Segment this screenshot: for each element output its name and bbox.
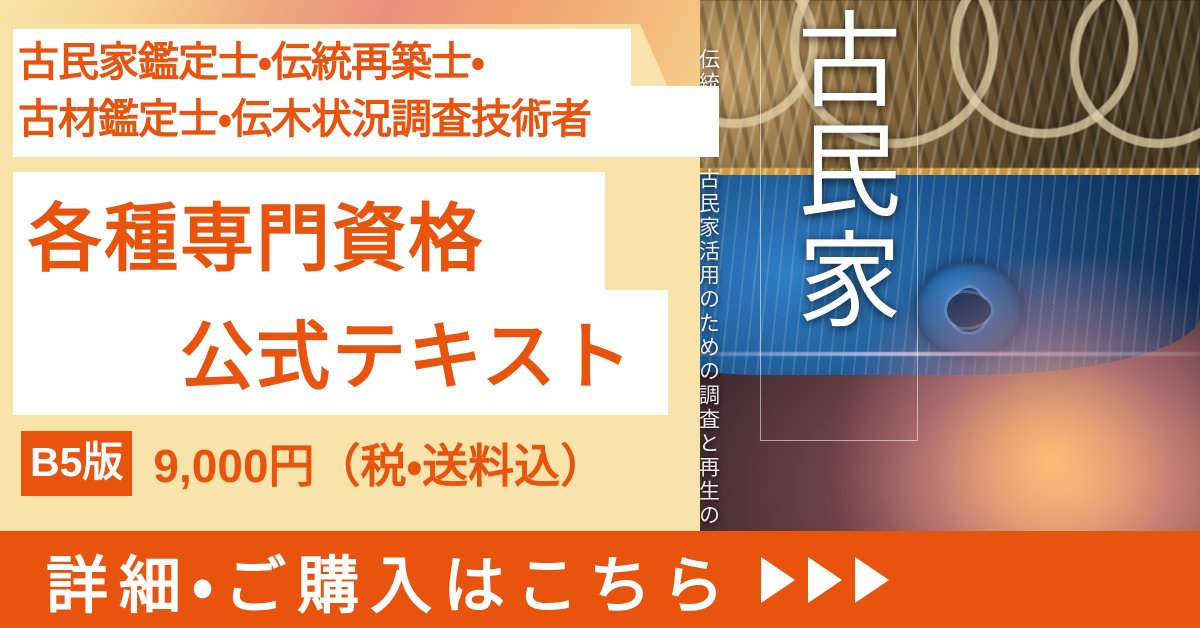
headline-line-2: 公式テキスト xyxy=(20,298,670,416)
promotional-banner: 古民家 伝統構法、古民家活用のための調査と再生の 古民家鑑定士・伝統再築士・ 古… xyxy=(0,0,1200,628)
arrow-right-icon xyxy=(761,557,795,603)
credentials-line-2: 古材鑑定士・伝木状況調査技術者 xyxy=(18,91,718,148)
credentials-text: 古民家鑑定士・伝統再築士・ 古材鑑定士・伝木状況調査技術者 xyxy=(18,34,718,148)
headline-text: 各種専門資格 公式テキスト xyxy=(20,180,670,416)
format-badge: B5版 xyxy=(21,431,132,496)
price-row: B5版 9,000円（税・送料込） xyxy=(21,432,606,494)
price-amount: 9,000円（税・送料込） xyxy=(153,430,606,496)
headline-line-1: 各種専門資格 xyxy=(20,180,670,298)
cta-label: 詳細・ご購入はこちら xyxy=(46,535,735,625)
cta-arrows xyxy=(761,557,889,603)
cta-button[interactable]: 詳細・ご購入はこちら xyxy=(0,531,1200,628)
credentials-line-1: 古民家鑑定士・伝統再築士・ xyxy=(18,34,718,91)
arrow-right-icon xyxy=(808,557,842,603)
arrow-right-icon xyxy=(855,557,889,603)
book-title: 古民家 xyxy=(770,6,910,336)
